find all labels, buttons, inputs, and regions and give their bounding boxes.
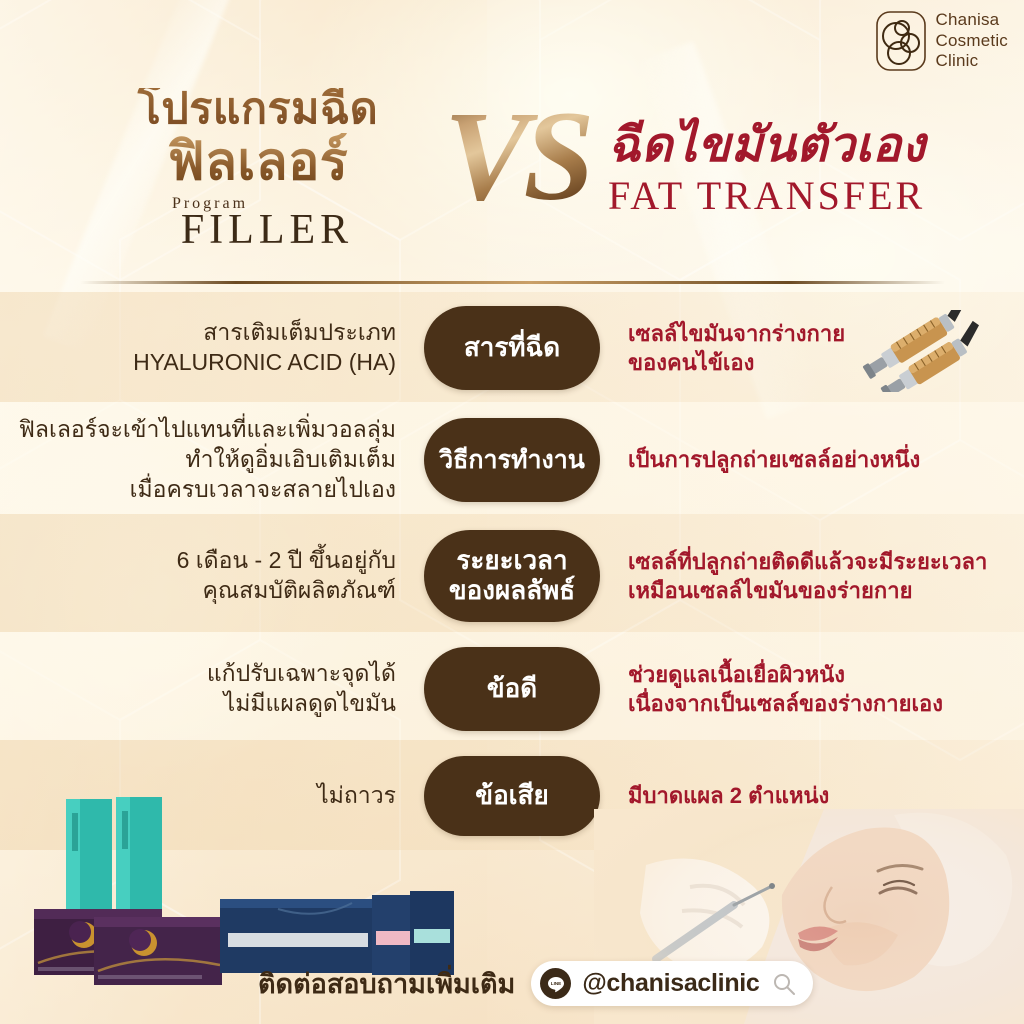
row-4-pill-wrap: ข้อดี [420,647,604,731]
heading-right: ฉีดไขมันตัวเอง FAT TRANSFER [608,120,1008,218]
brand-line-3: Clinic [936,51,1008,72]
row-2-pill-wrap: วิธีการทำงาน [420,418,604,502]
row-label-withi-kan-tham-ngan[interactable]: วิธีการทำงาน [424,418,600,502]
heading-left: โปรแกรมฉีด ฟิลเลอร์ Program FILLER [78,88,438,251]
brand-line-2: Cosmetic [936,31,1008,52]
heading-left-english: FILLER [96,209,438,251]
row-label-rayawela-khong-phonlap[interactable]: ระยะเวลา ของผลลัพธ์ [424,530,600,622]
row-1-left: สารเติมเต็มประเภท HYALURONIC ACID (HA) [0,318,420,378]
heading-right-english: FAT TRANSFER [608,174,1008,218]
heading-divider [80,281,945,284]
row-label-khor-dee[interactable]: ข้อดี [424,647,600,731]
row-3-left-line-1: 6 เดือน - 2 ปี ขึ้นอยู่กับ [0,546,396,576]
line-contact-badge[interactable]: LINE @chanisaclinic [531,961,812,1006]
infographic-page: Chanisa Cosmetic Clinic โปรแกรมฉีด ฟิลเล… [0,0,1024,1024]
row-3-right: เซลล์ที่ปลูกถ่ายติดดีแล้วจะมีระยะเวลา เห… [604,547,1024,606]
row-4-right-line-2: เนื่องจากเป็นเซลล์ของร่างกายเอง [628,689,1024,718]
row-2-left-line-3: เมื่อครบเวลาจะสลายไปเอง [0,475,396,505]
fat-syringes-icon [862,310,992,392]
contact-strip: ติดต่อสอบถามเพิ่มเติม LINE @chanisaclini… [258,961,813,1006]
row-1-left-line-1: สารเติมเต็มประเภท [0,318,396,348]
row-1-left-line-2: HYALURONIC ACID (HA) [0,348,396,378]
row-3-left-line-2: คุณสมบัติผลิตภัณฑ์ [0,576,396,606]
row-2-left: ฟิลเลอร์จะเข้าไปแทนที่และเพิ่มวอลลุ่ม ทำ… [0,415,420,505]
row-2-left-line-2: ทำให้ดูอิ่มเอิบเติมเต็ม [0,445,396,475]
heading-left-thai-2: ฟิลเลอร์ [78,133,438,191]
brand-logo[interactable]: Chanisa Cosmetic Clinic [875,10,1008,72]
row-2-left-line-1: ฟิลเลอร์จะเข้าไปแทนที่และเพิ่มวอลลุ่ม [0,415,396,445]
contact-label: ติดต่อสอบถามเพิ่มเติม [258,962,515,1005]
row-2-right-line-1: เป็นการปลูกถ่ายเซลล์อย่างหนึ่ง [628,445,1024,474]
search-icon[interactable] [771,971,797,997]
line-app-icon: LINE [540,968,571,999]
row-5-right: มีบาดแผล 2 ตำแหน่ง [604,781,1024,810]
chanisa-circles-logo-icon [875,10,927,72]
row-4-right-line-1: ช่วยดูแลเนื้อเยื่อผิวหนัง [628,660,1024,689]
row-3-pill-wrap: ระยะเวลา ของผลลัพธ์ [420,530,604,622]
row-3-pill-line-1: ระยะเวลา [456,546,567,576]
row-3-right-line-1: เซลล์ที่ปลูกถ่ายติดดีแล้วจะมีระยะเวลา [628,547,1024,576]
table-row: แก้ปรับเฉพาะจุดได้ ไม่มีแผลดูดไขมัน ข้อด… [0,642,1024,736]
row-3-right-line-2: เหมือนเซลล์ไขมันของร่ายกาย [628,576,1024,605]
svg-text:LINE: LINE [551,981,561,986]
brand-name: Chanisa Cosmetic Clinic [936,10,1008,72]
brand-line-1: Chanisa [936,10,1008,31]
heading-left-thai-1: โปรแกรมฉีด [78,88,438,131]
row-4-left: แก้ปรับเฉพาะจุดได้ ไม่มีแผลดูดไขมัน [0,659,420,719]
row-3-pill-line-2: ของผลลัพธ์ [449,576,575,606]
row-4-left-line-1: แก้ปรับเฉพาะจุดได้ [0,659,396,689]
row-1-pill-wrap: สารที่ฉีด [420,306,604,390]
row-2-right: เป็นการปลูกถ่ายเซลล์อย่างหนึ่ง [604,445,1024,474]
row-3-left: 6 เดือน - 2 ปี ขึ้นอยู่กับ คุณสมบัติผลิต… [0,546,420,606]
row-4-left-line-2: ไม่มีแผลดูดไขมัน [0,689,396,719]
vs-label: VS [444,92,589,220]
row-4-right: ช่วยดูแลเนื้อเยื่อผิวหนัง เนื่องจากเป็นเ… [604,660,1024,719]
heading-right-thai: ฉีดไขมันตัวเอง [608,120,1008,172]
table-row: 6 เดือน - 2 ปี ขึ้นอยู่กับ คุณสมบัติผลิต… [0,526,1024,626]
line-handle-text: @chanisaclinic [582,969,759,998]
table-row: ฟิลเลอร์จะเข้าไปแทนที่และเพิ่มวอลลุ่ม ทำ… [0,412,1024,508]
row-label-sarn-tee-cheed[interactable]: สารที่ฉีด [424,306,600,390]
row-5-right-line-1: มีบาดแผล 2 ตำแหน่ง [628,781,1024,810]
